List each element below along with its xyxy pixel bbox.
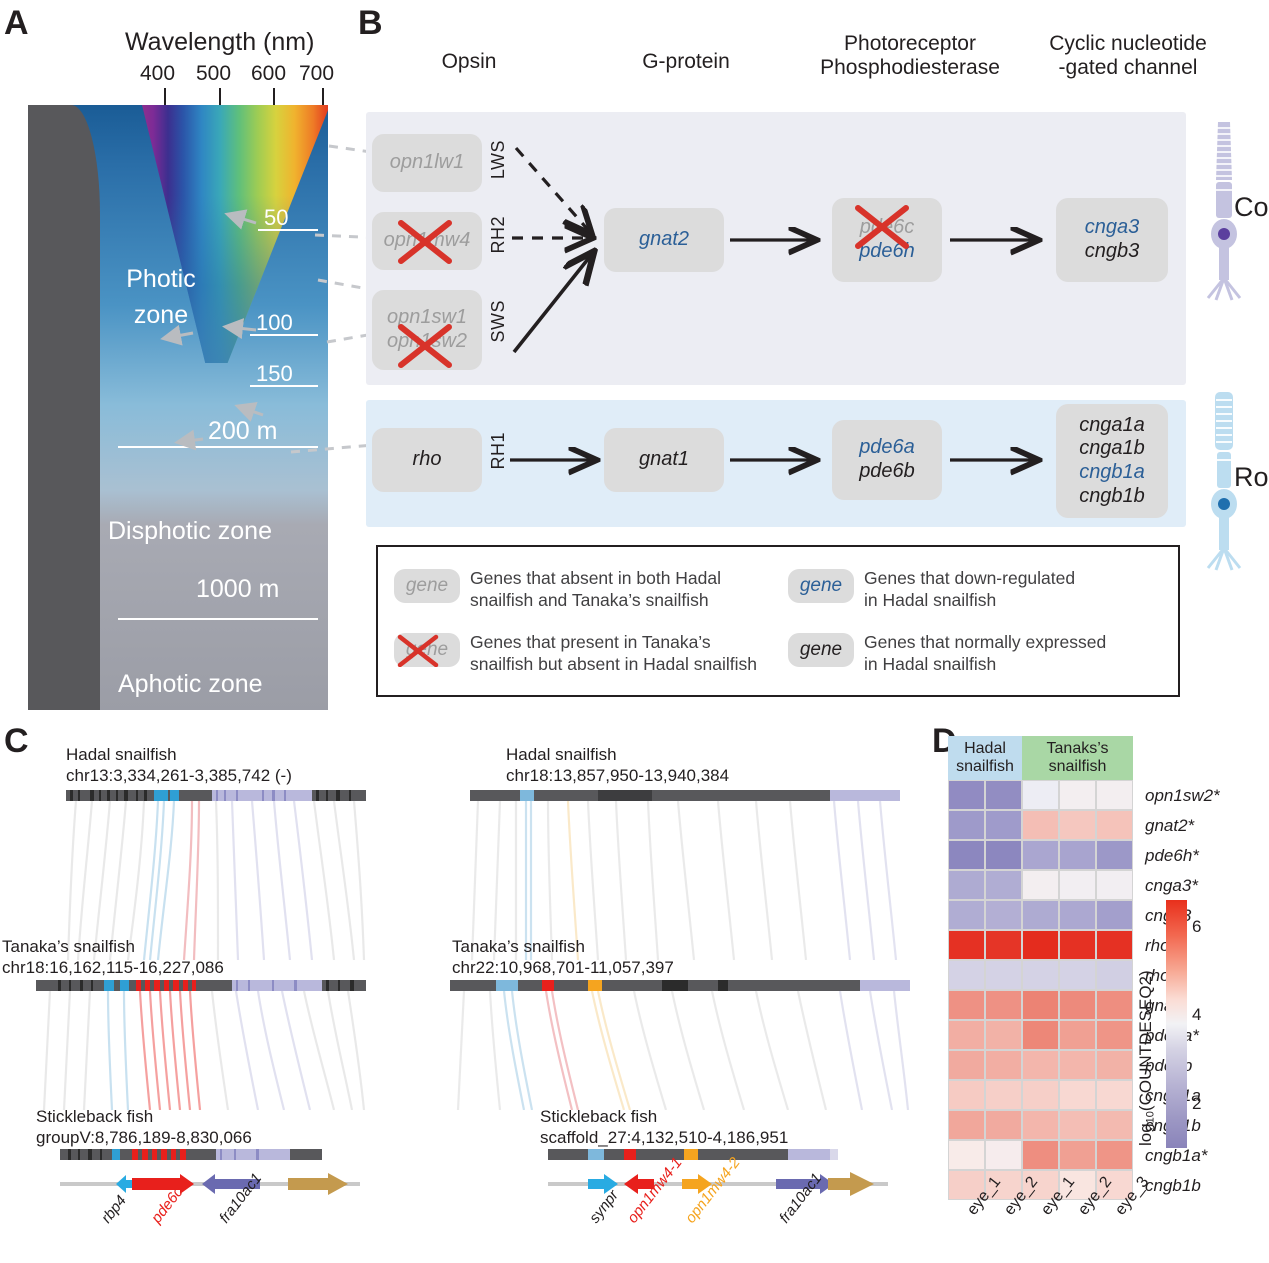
colorbar-title: log10(COUNTDESEQ2) — [1136, 906, 1156, 1146]
heatmap-cell — [1096, 810, 1133, 840]
gene-label-opn1mw4: opn1mw4 — [384, 229, 471, 253]
opsin-type-sws: SWS — [488, 300, 509, 343]
legend-chip-text-down: gene — [800, 575, 842, 597]
heatmap-cell — [985, 810, 1022, 840]
legend-text-absent-l1: Genes that absent in both Hadal — [470, 567, 770, 589]
heatmap-cell — [1022, 990, 1059, 1020]
tick-mark-500 — [219, 88, 221, 106]
heatmap-cell — [985, 780, 1022, 810]
synteny-left-track2-locus: chr18:16,162,115-16,227,086 — [2, 957, 224, 978]
gene-box-opn1sw[interactable]: opn1sw1 opn1sw2 — [372, 290, 482, 370]
panel-d-expression-heatmap: D Hadal snailfish Tanaks’s snailfish opn… — [930, 718, 1269, 1263]
heatmap-cell — [1059, 960, 1096, 990]
heatmap-cell — [1059, 870, 1096, 900]
legend-text-down-l1: Genes that down-regulated — [864, 567, 1164, 589]
synteny-right-ribbons-top — [470, 790, 900, 960]
synteny-right-track1-species: Hadal snailfish — [506, 744, 729, 765]
wavelength-tick-700: 700 — [299, 62, 334, 86]
heatmap-cell — [1096, 780, 1133, 810]
synteny-left-ribbons-bottom — [36, 980, 366, 1110]
heatmap-cell — [985, 990, 1022, 1020]
synteny-left-ribbons-top — [66, 790, 366, 960]
heatmap-cell — [1059, 1140, 1096, 1170]
gene-label-gnat1: gnat1 — [639, 448, 689, 472]
colorbar-title-sub: 10 — [1144, 1111, 1156, 1123]
heatmap-row-label: gnat2* — [1145, 816, 1194, 836]
tick-mark-700 — [322, 88, 324, 106]
gene-label-opn1sw1: opn1sw1 — [387, 306, 467, 330]
legend-text-crossed-l2: snailfish but absent in Hadal snailfish — [470, 653, 780, 675]
heatmap-cell — [1096, 990, 1133, 1020]
group-header-hadal-l1: Hadal — [956, 740, 1014, 758]
opsin-type-rh1: RH1 — [488, 432, 509, 470]
gene-label-rho: rho — [413, 448, 442, 472]
wavelength-tick-600: 600 — [251, 62, 286, 86]
column-header-pde-line1: Photoreceptor — [790, 32, 1030, 56]
heatmap-cell — [985, 1050, 1022, 1080]
synteny-right-track3-title: Stickleback fish scaffold_27:4,132,510-4… — [540, 1106, 788, 1149]
synteny-right-track1-title: Hadal snailfish chr18:13,857,950-13,940,… — [506, 744, 729, 787]
heatmap-cell — [948, 1050, 985, 1080]
heatmap-row-label: cngb1a* — [1145, 1146, 1207, 1166]
legend-chip-absent: gene — [394, 569, 460, 603]
column-header-opsin: Opsin — [374, 50, 564, 74]
heatmap-cell — [1022, 960, 1059, 990]
synteny-right-track3-species: Stickleback fish — [540, 1106, 788, 1127]
seafloor-cliff-lower — [28, 465, 80, 710]
gene-box-pde6a-pde6b[interactable]: pde6a pde6b — [832, 420, 942, 500]
heatmap-cell — [1059, 900, 1096, 930]
depth-label-150: 150 — [256, 361, 293, 387]
zone-label-photic-line2: zone — [106, 301, 216, 330]
synteny-left-track3-title: Stickleback fish groupV:8,786,189-8,830,… — [36, 1106, 252, 1149]
legend-text-absent: Genes that absent in both Hadal snailfis… — [470, 567, 770, 612]
heatmap-cell — [1059, 810, 1096, 840]
synteny-left-track2-species: Tanaka’s snailfish — [2, 936, 224, 957]
heatmap-cell — [1022, 870, 1059, 900]
heatmap-cell — [948, 870, 985, 900]
heatmap-cell — [1022, 840, 1059, 870]
cone-cell-label: Cone — [1234, 192, 1269, 223]
gene-box-rho[interactable]: rho — [372, 428, 482, 492]
zone-label-disphotic: Disphotic zone — [108, 517, 308, 546]
heatmap-cell — [1022, 1110, 1059, 1140]
gene-label-pde6a: pde6a — [859, 436, 915, 460]
gene-label-cnga1a: cnga1a — [1079, 414, 1145, 438]
legend-text-absent-l2: snailfish and Tanaka’s snailfish — [470, 589, 770, 611]
rod-cell-label: Rod — [1234, 462, 1269, 493]
gene-label-cnga1b: cnga1b — [1079, 437, 1145, 461]
gene-box-pde6c-pde6h[interactable]: pde6c pde6h — [832, 198, 942, 282]
legend-text-normal: Genes that normally expressed in Hadal s… — [864, 631, 1174, 676]
heatmap-cell — [948, 840, 985, 870]
synteny-right-ribbons-bottom — [450, 980, 910, 1110]
panel-c-synteny: C Hadal snailfish chr13:3,334,261-3,385,… — [0, 718, 930, 1263]
panel-a-letter: A — [4, 6, 29, 40]
heatmap-cell — [1096, 1110, 1133, 1140]
heatmap-cell — [1059, 780, 1096, 810]
gene-box-gnat1[interactable]: gnat1 — [604, 428, 724, 492]
heatmap-cell — [1022, 1020, 1059, 1050]
colorbar-title-rest: (COUNTDESEQ2) — [1136, 970, 1155, 1111]
column-header-gprotein: G-protein — [576, 50, 796, 74]
legend-chip-text-absent: gene — [406, 575, 448, 597]
legend-chip-crossed: gene — [394, 633, 460, 667]
heatmap-cell — [948, 1140, 985, 1170]
legend-text-down: Genes that down-regulated in Hadal snail… — [864, 567, 1164, 612]
zone-label-photic-line1: Photic — [106, 265, 216, 294]
gene-label-cngb1b: cngb1b — [1079, 485, 1145, 509]
synteny-right-track3-chrbar — [548, 1148, 838, 1162]
legend-text-crossed-l1: Genes that present in Tanaka’s — [470, 631, 780, 653]
gene-arrow-flank — [288, 1173, 348, 1195]
heatmap-row-label: opn1sw2* — [1145, 786, 1220, 806]
panel-a-ocean-light: A Wavelength (nm) 400 500 600 700 50 100… — [0, 0, 345, 710]
column-header-channel-line1: Cyclic nucleotide — [1018, 32, 1238, 56]
group-header-tanaka-l2: snailfish — [1047, 758, 1109, 776]
legend-chip-normal: gene — [788, 633, 854, 667]
heatmap-cell — [985, 900, 1022, 930]
synteny-left-track1-species: Hadal snailfish — [66, 744, 292, 765]
heatmap-cell — [1096, 960, 1133, 990]
opsin-type-lws: LWS — [488, 140, 509, 179]
heatmap-cell — [1059, 1020, 1096, 1050]
heatmap-cell — [1022, 810, 1059, 840]
depth-line-1000 — [118, 618, 318, 620]
heatmap-cell — [985, 1140, 1022, 1170]
panel-b-phototransduction-pathway: B Opsin G-protein Photoreceptor Phosphod… — [358, 0, 1269, 710]
wavelength-tick-500: 500 — [196, 62, 231, 86]
tick-mark-400 — [164, 88, 166, 106]
legend-chip-down: gene — [788, 569, 854, 603]
gene-label-cngb1a: cngb1a — [1079, 461, 1145, 485]
heatmap-row-label: cngb1b — [1145, 1176, 1201, 1196]
panel-b-letter: B — [358, 6, 383, 40]
heatmap-cell — [1096, 1140, 1133, 1170]
gene-label-gnat2: gnat2 — [639, 228, 689, 252]
depth-label-200m: 200 m — [208, 417, 277, 446]
colorbar-tick: 4 — [1192, 1005, 1201, 1025]
synteny-right-track3-locus: scaffold_27:4,132,510-4,186,951 — [540, 1127, 788, 1148]
heatmap-cell — [985, 840, 1022, 870]
heatmap-cell — [985, 930, 1022, 960]
depth-label-50: 50 — [264, 205, 288, 231]
synteny-left-track3-locus: groupV:8,786,189-8,830,066 — [36, 1127, 252, 1148]
heatmap-cell — [1059, 1050, 1096, 1080]
heatmap-cell — [1059, 1110, 1096, 1140]
heatmap-cell — [948, 810, 985, 840]
heatmap-cell — [1059, 840, 1096, 870]
depth-label-1000m: 1000 m — [196, 575, 279, 604]
column-header-pde-line2: Phosphodiesterase — [790, 56, 1030, 80]
heatmap-cell — [1096, 930, 1133, 960]
depth-line-200 — [118, 446, 318, 448]
heatmap-cell — [948, 930, 985, 960]
group-header-tanaka: Tanaks’s snailfish — [1022, 736, 1133, 780]
heatmap-cell — [948, 1110, 985, 1140]
heatmap-cell — [1059, 990, 1096, 1020]
gene-box-gnat2[interactable]: gnat2 — [604, 208, 724, 272]
heatmap-cell — [1022, 930, 1059, 960]
gene-arrow-flank-right — [828, 1172, 874, 1196]
heatmap-cell — [985, 870, 1022, 900]
panel-b-legend: gene Genes that absent in both Hadal sna… — [376, 545, 1180, 697]
depth-label-100: 100 — [256, 310, 293, 336]
gene-label-cnga3: cnga3 — [1085, 216, 1140, 240]
gene-box-opn1lw1[interactable]: opn1lw1 — [372, 134, 482, 192]
heatmap-cell — [985, 1110, 1022, 1140]
colorbar-title-base: log — [1136, 1123, 1155, 1146]
heatmap-cell — [1022, 1050, 1059, 1080]
legend-chip-text-normal: gene — [800, 639, 842, 661]
colorbar — [1166, 900, 1187, 1148]
synteny-left-track1-locus: chr13:3,334,261-3,385,742 (-) — [66, 765, 292, 786]
heatmap-cell — [948, 780, 985, 810]
heatmap-cell — [985, 1080, 1022, 1110]
synteny-right-track2-locus: chr22:10,968,701-11,057,397 — [452, 957, 674, 978]
heatmap-cell — [1059, 1080, 1096, 1110]
panel-c-letter: C — [4, 724, 29, 758]
opsin-type-rh2: RH2 — [488, 216, 509, 254]
heatmap-row-label: pde6h* — [1145, 846, 1199, 866]
heatmap-cell — [948, 960, 985, 990]
gene-label-pde6h: pde6h — [859, 240, 915, 264]
gene-label-cngb3: cngb3 — [1085, 240, 1140, 264]
heatmap-row-label: cnga3* — [1145, 876, 1198, 896]
legend-text-normal-l2: in Hadal snailfish — [864, 653, 1174, 675]
group-header-hadal: Hadal snailfish — [948, 736, 1022, 780]
heatmap-cell — [1022, 1140, 1059, 1170]
legend-text-crossed: Genes that present in Tanaka’s snailfish… — [470, 631, 780, 676]
zone-label-aphotic: Aphotic zone — [118, 670, 318, 699]
gene-arrow-pde6c — [132, 1174, 194, 1194]
gene-box-cng-rod[interactable]: cnga1a cnga1b cngb1a cngb1b — [1056, 404, 1168, 518]
heatmap-cell — [948, 900, 985, 930]
heatmap-cell — [985, 1020, 1022, 1050]
colorbar-tick: 6 — [1192, 917, 1201, 937]
column-header-channel-line2: -gated channel — [1018, 56, 1238, 80]
synteny-left-track1-title: Hadal snailfish chr13:3,334,261-3,385,74… — [66, 744, 292, 787]
synteny-right-track1-locus: chr18:13,857,950-13,940,384 — [506, 765, 729, 786]
synteny-right-track2-species: Tanaka’s snailfish — [452, 936, 674, 957]
tick-mark-600 — [273, 88, 275, 106]
heatmap-cell — [948, 1020, 985, 1050]
gene-box-cnga3-cngb3[interactable]: cnga3 cngb3 — [1056, 198, 1168, 282]
heatmap-cell — [1096, 870, 1133, 900]
gene-label-pde6c: pde6c — [860, 216, 915, 240]
group-header-hadal-l2: snailfish — [956, 758, 1014, 776]
legend-text-down-l2: in Hadal snailfish — [864, 589, 1164, 611]
colorbar-tick: 2 — [1192, 1094, 1201, 1114]
synteny-left-track3-chrbar — [60, 1148, 322, 1162]
heatmap-cell — [1096, 1020, 1133, 1050]
wavelength-tick-400: 400 — [140, 62, 175, 86]
gene-label-opn1lw1: opn1lw1 — [390, 151, 465, 175]
synteny-left-track3-species: Stickleback fish — [36, 1106, 252, 1127]
heatmap-cell — [1022, 900, 1059, 930]
heatmap-cell — [1096, 900, 1133, 930]
heatmap-cell — [1059, 930, 1096, 960]
heatmap-cell — [1096, 840, 1133, 870]
heatmap-cell — [948, 1080, 985, 1110]
synteny-left-track2-title: Tanaka’s snailfish chr18:16,162,115-16,2… — [2, 936, 224, 979]
heatmap-cell — [948, 990, 985, 1020]
gene-label-opn1sw2: opn1sw2 — [387, 330, 467, 354]
ocean-depth-diagram: 50 100 150 200 m 1000 m Photic zone Disp… — [28, 105, 328, 710]
heatmap-cell — [1096, 1050, 1133, 1080]
synteny-right-track2-title: Tanaka’s snailfish chr22:10,968,701-11,0… — [452, 936, 674, 979]
heatmap-cell — [1022, 1080, 1059, 1110]
heatmap-cell — [985, 960, 1022, 990]
gene-label-pde6b: pde6b — [859, 460, 915, 484]
group-header-tanaka-l1: Tanaks’s — [1047, 740, 1109, 758]
gene-box-opn1mw4[interactable]: opn1mw4 — [372, 212, 482, 270]
synteny-left-gene-track — [60, 1166, 360, 1202]
wavelength-axis-title: Wavelength (nm) — [125, 28, 314, 57]
legend-chip-text-crossed: gene — [406, 639, 448, 661]
legend-text-normal-l1: Genes that normally expressed — [864, 631, 1174, 653]
heatmap-cell — [1022, 780, 1059, 810]
heatmap-cell — [1096, 1080, 1133, 1110]
